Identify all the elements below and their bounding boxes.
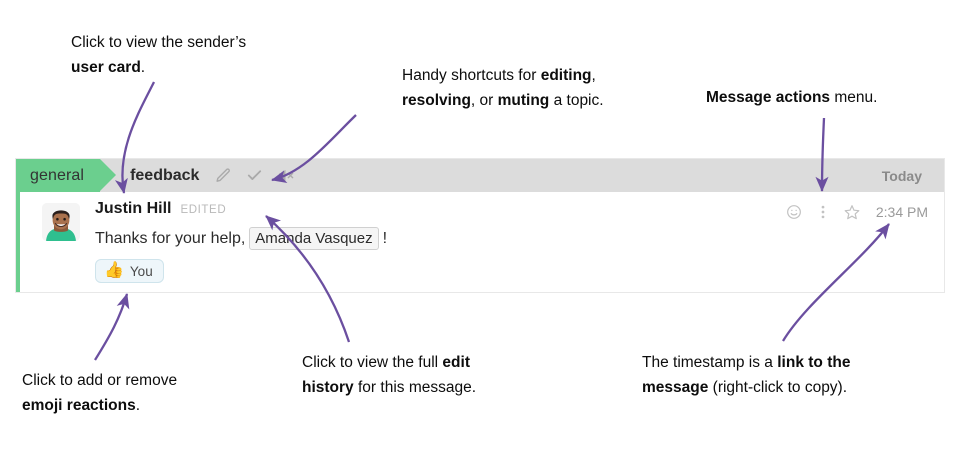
annotation-user-card: Click to view the sender’s user card. — [71, 30, 246, 80]
message-action-controls: 2:34 PM — [786, 204, 928, 220]
arrow-emoji-reactions — [95, 294, 127, 360]
message-timestamp[interactable]: 2:34 PM — [876, 204, 928, 220]
annotation-message-actions: Message actions menu. — [706, 85, 877, 110]
message-text-before: Thanks for your help, — [95, 230, 245, 248]
message-text: Thanks for your help, Amanda Vasquez ! — [95, 227, 944, 250]
annotation-edit-history: Click to view the full edit history for … — [302, 350, 476, 400]
pencil-icon[interactable] — [215, 167, 232, 184]
reaction-label: You — [130, 264, 153, 279]
annotation-emoji-reactions: Click to add or remove emoji reactions. — [22, 368, 177, 418]
annotation-shortcuts-mid: , or — [471, 92, 498, 109]
annotation-message-actions-tail: menu. — [830, 89, 877, 106]
avatar[interactable] — [42, 203, 80, 241]
emoji-reaction-pill[interactable]: 👍 You — [95, 259, 164, 283]
annotation-shortcuts-comma: , — [592, 67, 596, 84]
sender-name[interactable]: Justin Hill — [95, 200, 171, 218]
annotation-timestamp-bold1: link to the — [777, 354, 850, 371]
annotation-timestamp-pre: The timestamp is a — [642, 354, 777, 371]
annotation-user-card-tail: . — [141, 59, 145, 76]
message-actions-icon[interactable] — [815, 204, 831, 220]
diagram-stage: Click to view the sender’s user card. Ha… — [0, 0, 960, 451]
annotation-timestamp-link: The timestamp is a link to the message (… — [642, 350, 850, 400]
annotation-edit-history-post: for this message. — [354, 379, 476, 396]
date-label[interactable]: Today — [882, 168, 922, 184]
annotation-timestamp-bold2: message — [642, 379, 708, 396]
edited-label[interactable]: EDITED — [180, 204, 226, 216]
annotation-timestamp-post: (right-click to copy). — [708, 379, 847, 396]
user-mention[interactable]: Amanda Vasquez — [249, 227, 378, 250]
message-text-after: ! — [383, 230, 387, 248]
message-widget: general feedback — [16, 159, 944, 292]
annotation-message-actions-bold: Message actions — [706, 89, 830, 106]
thumbs-up-icon: 👍 — [104, 263, 124, 279]
annotation-user-card-bold: user card — [71, 59, 141, 76]
mute-icon[interactable] — [277, 167, 294, 184]
annotation-edit-history-bold2: history — [302, 379, 354, 396]
topic-action-icons — [215, 167, 294, 184]
annotation-shortcuts-pre: Handy shortcuts for — [402, 67, 541, 84]
stream-name: general — [30, 167, 84, 185]
annotation-emoji-bold: emoji reactions — [22, 397, 136, 414]
stream-badge[interactable]: general — [16, 159, 100, 192]
star-icon[interactable] — [844, 204, 860, 220]
annotation-topic-shortcuts: Handy shortcuts for editing, resolving, … — [402, 63, 604, 113]
topic-name[interactable]: feedback — [130, 167, 199, 185]
annotation-shortcuts-resolving: resolving — [402, 92, 471, 109]
annotation-user-card-line1: Click to view the sender’s — [71, 34, 246, 51]
annotation-shortcuts-muting: muting — [498, 92, 550, 109]
emoji-reaction-icon[interactable] — [786, 204, 802, 220]
annotation-edit-history-pre: Click to view the full — [302, 354, 442, 371]
recipient-bar: general feedback — [16, 159, 944, 192]
message-row[interactable]: Justin Hill EDITED Thanks for your help,… — [16, 192, 944, 292]
annotation-shortcuts-post: a topic. — [549, 92, 603, 109]
annotation-emoji-tail: . — [136, 397, 140, 414]
check-icon[interactable] — [246, 167, 263, 184]
annotation-emoji-line1: Click to add or remove — [22, 372, 177, 389]
annotation-edit-history-bold1: edit — [442, 354, 470, 371]
annotation-shortcuts-editing: editing — [541, 67, 592, 84]
